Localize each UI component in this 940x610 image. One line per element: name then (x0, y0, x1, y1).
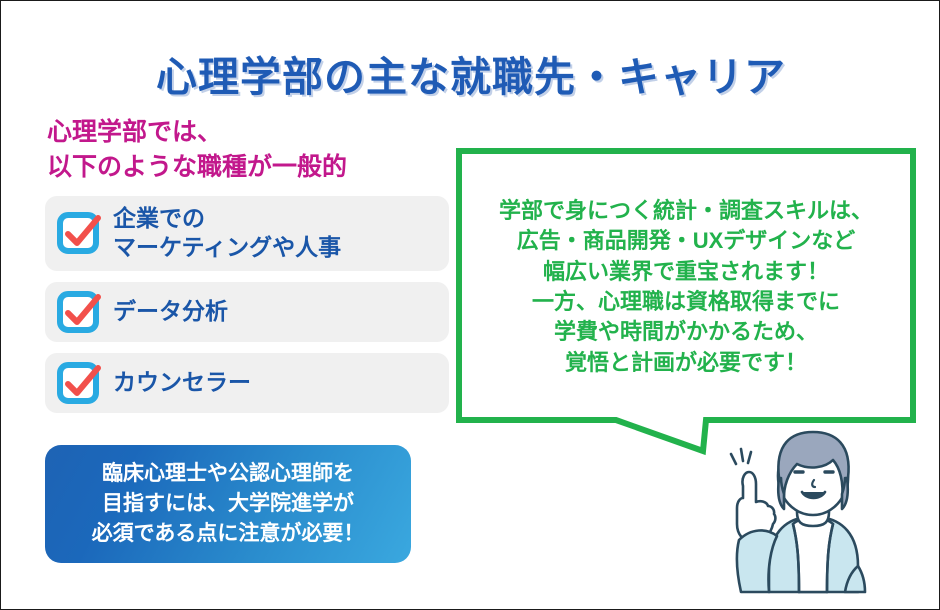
green-bubble-text: 学部で身につく統計・調査スキルは、 広告・商品開発・UXデザインなど 幅広い業界… (456, 196, 916, 378)
lead-heading: 心理学部では、 以下のような職種が一般的 (47, 115, 449, 184)
page-title: 心理学部の主な就職先・キャリア (1, 43, 940, 103)
infographic-canvas: 心理学部の主な就職先・キャリア 心理学部では、 以下のような職種が一般的 企業で… (0, 0, 940, 610)
list-item[interactable]: カウンセラー (45, 353, 449, 413)
list-item[interactable]: 企業での マーケティングや人事 (45, 196, 449, 271)
left-column: 心理学部では、 以下のような職種が一般的 企業での マーケティングや人事 データ… (45, 115, 449, 424)
emphasis-line (731, 454, 736, 464)
woman-pointing-up-illustration (713, 416, 903, 606)
list-item-label: データ分析 (113, 297, 228, 326)
list-item-label: カウンセラー (113, 368, 251, 397)
blue-note-text: 臨床心理士や公認心理師を 目指すには、大学院進学が 必須である点に注意が必要！ (92, 459, 365, 548)
green-speech-bubble: 学部で身につく統計・調査スキルは、 広告・商品開発・UXデザインなど 幅広い業界… (456, 148, 916, 423)
checkbox-checked-icon (57, 361, 101, 405)
emphasis-line (748, 452, 751, 463)
list-item[interactable]: データ分析 (45, 282, 449, 342)
checkbox-checked-icon (57, 211, 101, 255)
checkbox-checked-icon (57, 290, 101, 334)
list-item-label: 企業での マーケティングや人事 (113, 204, 341, 263)
emphasis-line (741, 449, 743, 461)
blue-note-callout: 臨床心理士や公認心理師を 目指すには、大学院進学が 必須である点に注意が必要！ (45, 445, 411, 563)
